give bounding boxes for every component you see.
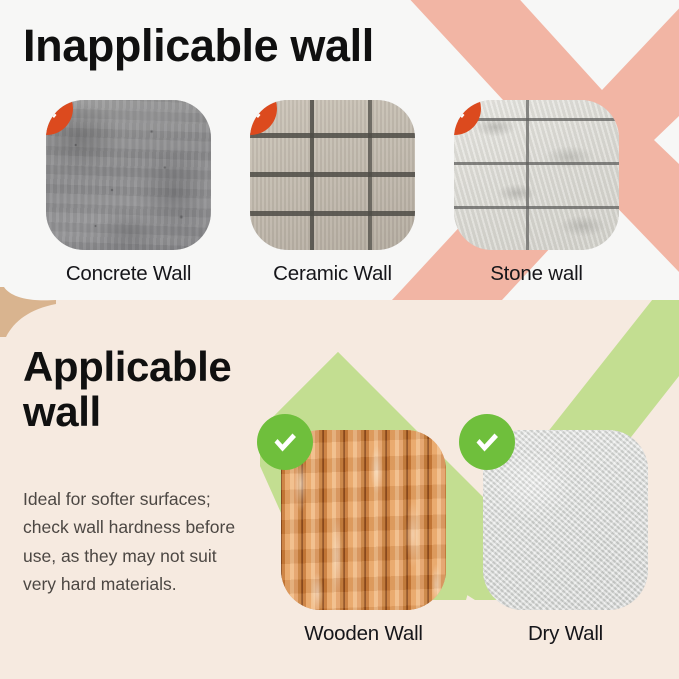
- inapplicable-section-heading: Inapplicable wall: [23, 22, 374, 70]
- wall-compatibility-infographic: Inapplicable wall Concrete Wall: [0, 0, 679, 679]
- wall-card-stone[interactable]: Stone wall: [454, 100, 619, 286]
- check-icon: [472, 427, 502, 457]
- wall-card-label: Concrete Wall: [46, 262, 211, 286]
- applicable-card-row: Wooden Wall Dry Wall: [281, 430, 661, 646]
- concrete-texture: [46, 100, 211, 250]
- inapplicable-card-row: Concrete Wall Ceramic Wall: [46, 100, 646, 286]
- applicable-section-heading: Applicable wall: [23, 345, 273, 434]
- concrete-wall-thumbnail: [46, 100, 211, 250]
- ceramic-texture: [250, 100, 415, 250]
- wall-card-wooden[interactable]: Wooden Wall: [281, 430, 446, 646]
- check-badge-dry: [459, 414, 515, 470]
- stone-texture: [454, 100, 619, 250]
- applicable-wall-section: Applicable wall Ideal for softer surface…: [0, 300, 679, 679]
- wall-card-ceramic[interactable]: Ceramic Wall: [250, 100, 415, 286]
- inapplicable-wall-section: Inapplicable wall Concrete Wall: [0, 0, 679, 300]
- wall-card-concrete[interactable]: Concrete Wall: [46, 100, 211, 286]
- cross-icon: [250, 100, 264, 122]
- applicable-section-description: Ideal for softer surfaces; check wall ha…: [23, 485, 238, 598]
- wall-card-dry[interactable]: Dry Wall: [483, 430, 648, 646]
- wall-card-label: Stone wall: [454, 262, 619, 286]
- wall-card-label: Wooden Wall: [281, 622, 446, 646]
- wall-card-label: Dry Wall: [483, 622, 648, 646]
- ceramic-wall-thumbnail: [250, 100, 415, 250]
- cross-icon: [454, 100, 468, 122]
- check-icon: [270, 427, 300, 457]
- cross-icon: [46, 100, 60, 122]
- stone-wall-thumbnail: [454, 100, 619, 250]
- wall-card-label: Ceramic Wall: [250, 262, 415, 286]
